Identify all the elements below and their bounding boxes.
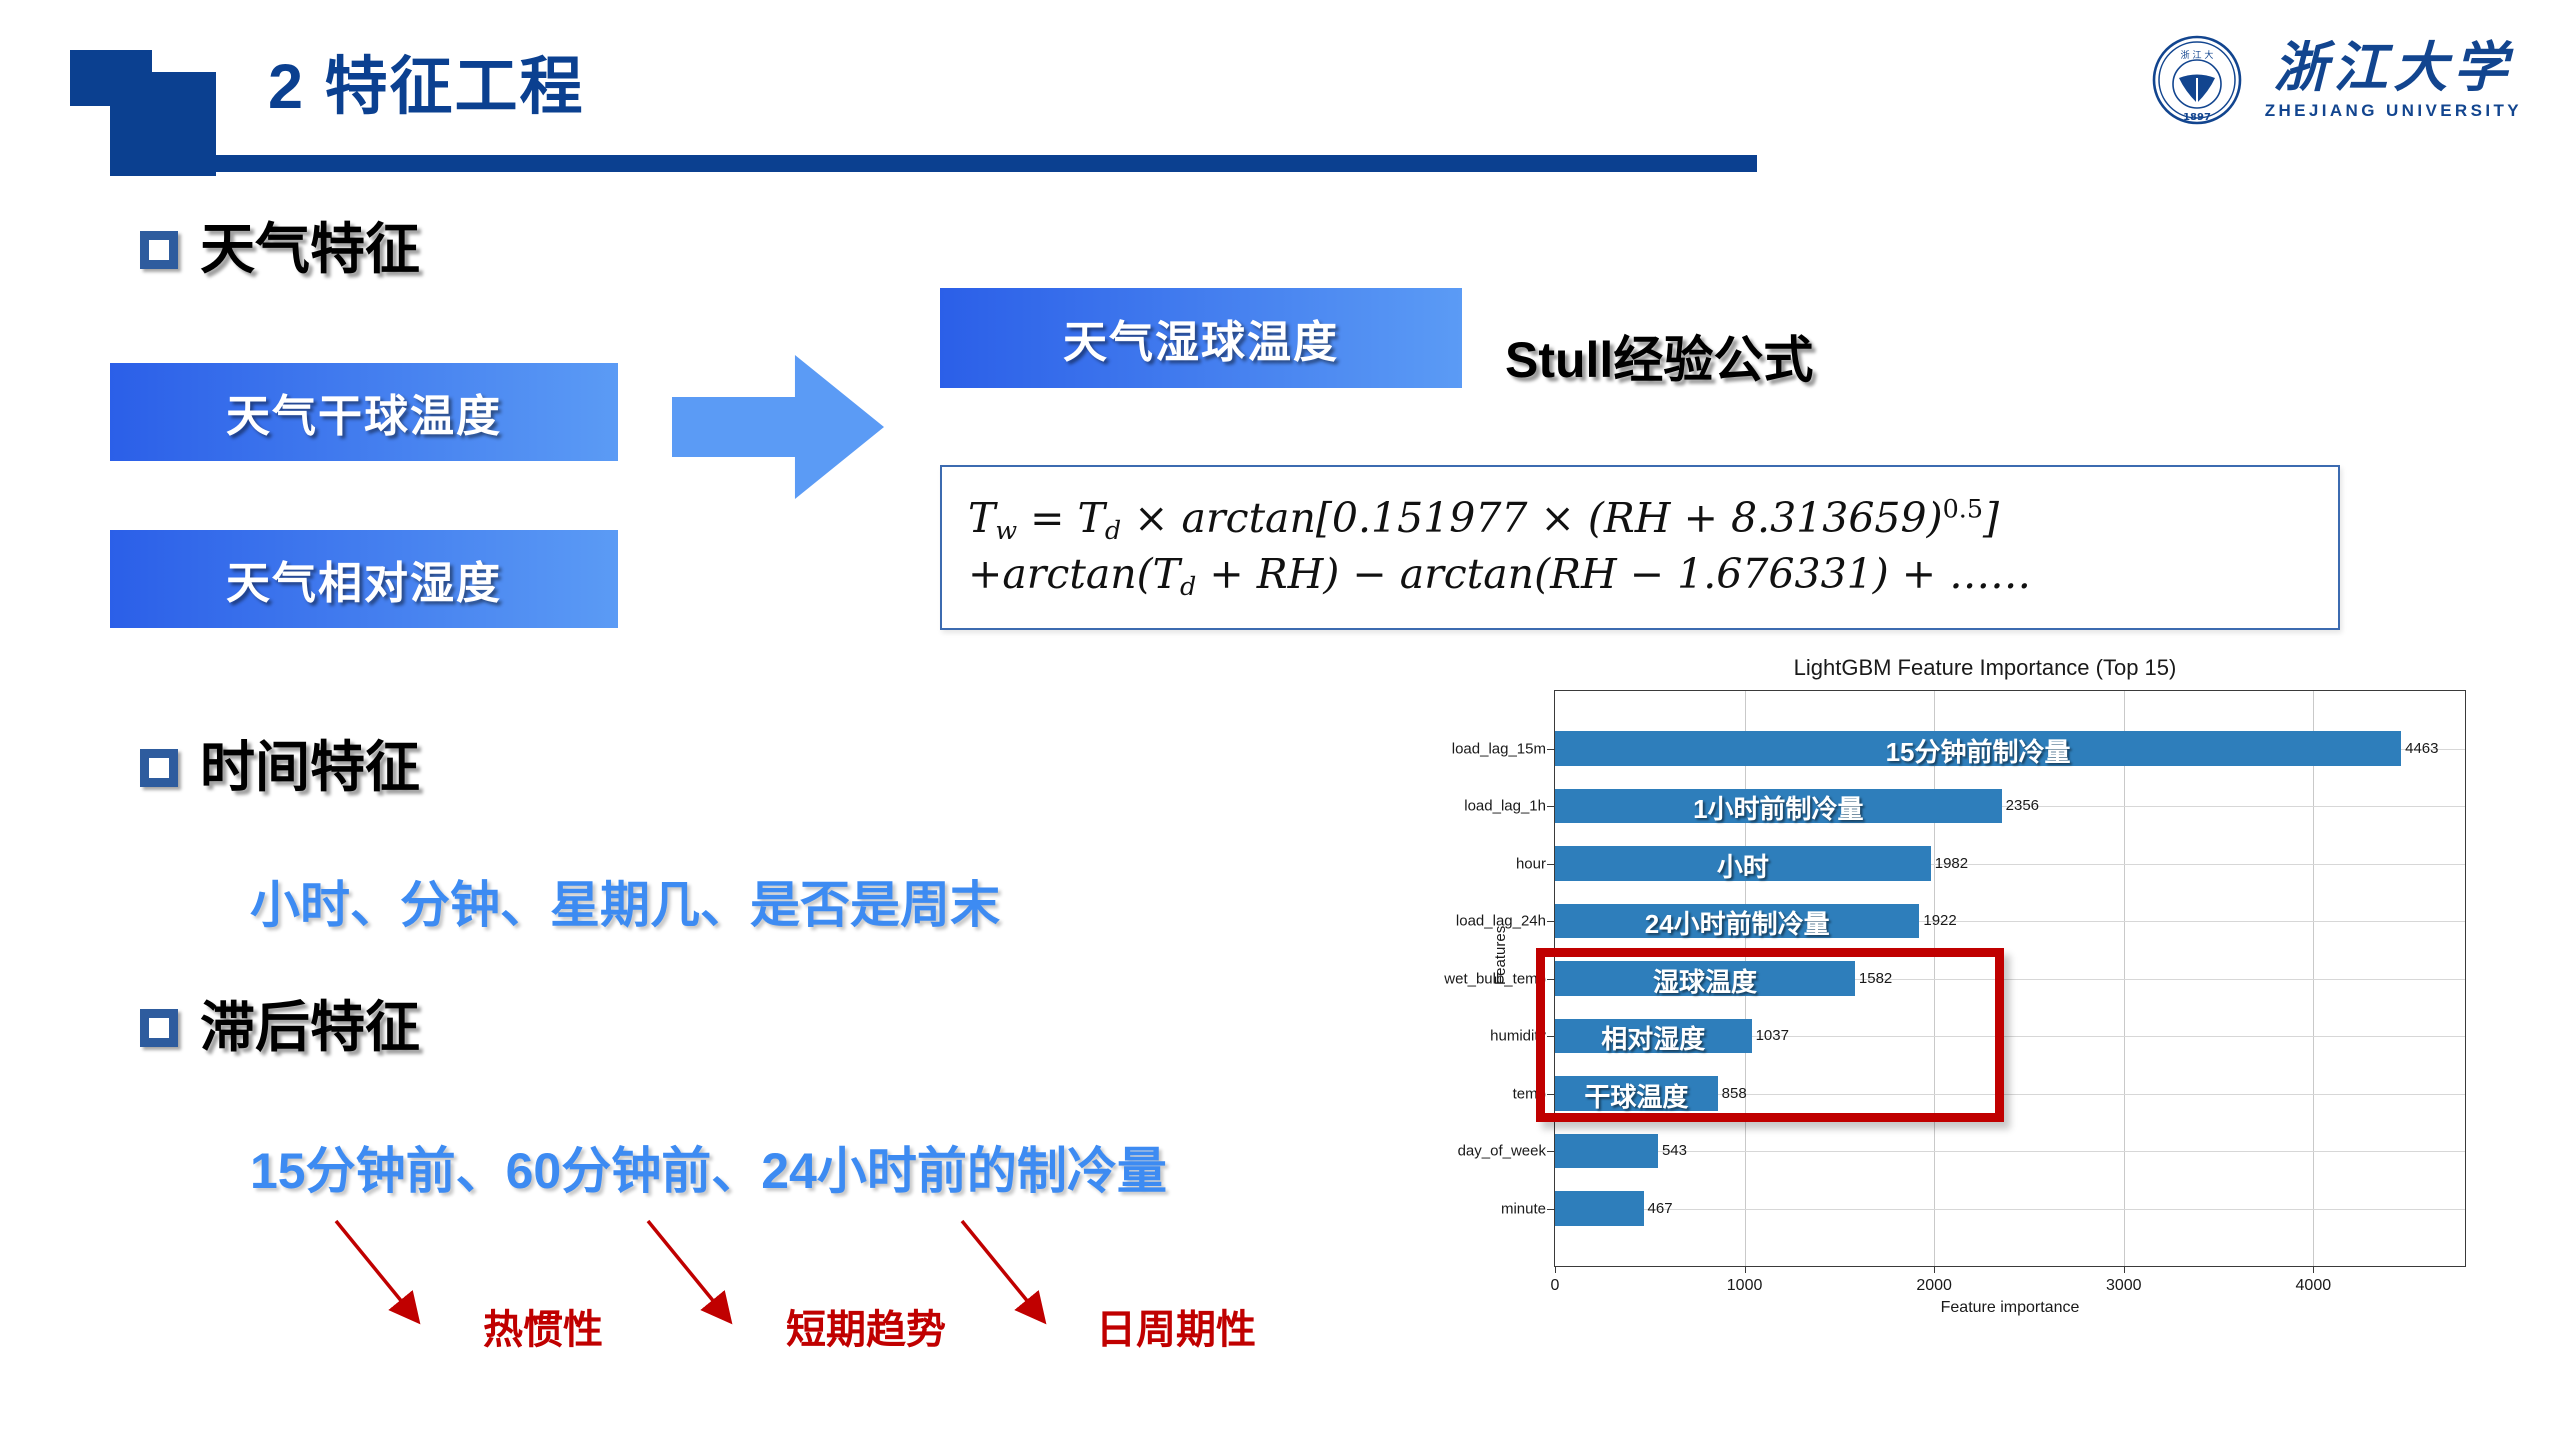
stull-formula-box: Tw = Td × arctan[0.151977 × (RH + 8.3136… <box>940 465 2340 630</box>
chart-bar-value: 467 <box>1648 1200 1673 1217</box>
annotation-thermal-inertia: 热惯性 <box>483 1297 603 1355</box>
chart-y-tick: load_lag_15m <box>1452 740 1546 757</box>
chart-bar-annotation: 小时 <box>1555 847 1931 884</box>
square-bullet-icon <box>140 231 178 269</box>
logo-wordmark: 浙江大学 ZHEJIANG UNIVERSITY <box>2265 40 2522 121</box>
chart-y-tick: hour <box>1516 855 1546 872</box>
chart-x-tick: 0 <box>1551 1277 1560 1295</box>
chart-y-tickmark <box>1547 864 1555 865</box>
chip-relative-humidity: 天气相对湿度 <box>110 530 618 628</box>
chip-dry-bulb-label: 天气干球温度 <box>226 380 502 444</box>
time-features-detail: 小时、分钟、星期几、是否是周末 <box>250 880 1000 930</box>
chart-bar-value: 1982 <box>1935 855 1968 872</box>
bullet-time-features: 时间特征 <box>140 740 420 795</box>
zju-seal-icon: 1897 浙 江 大 <box>2151 34 2243 126</box>
annotation-short-term-trend: 短期趋势 <box>786 1297 946 1355</box>
chart-bar-annotation: 15分钟前制冷量 <box>1555 732 2401 769</box>
chart-x-tick: 3000 <box>2106 1277 2142 1295</box>
chart-bar-annotation: 湿球温度 <box>1555 962 1855 999</box>
chart-y-tickmark <box>1547 806 1555 807</box>
chart-bar-value: 2356 <box>2006 797 2039 814</box>
page-title: 2 特征工程 <box>268 56 585 119</box>
annotation-daily-periodicity: 日周期性 <box>1096 1297 1256 1355</box>
chart-y-tick: load_lag_24h <box>1456 913 1546 930</box>
chart-x-axis-label: Feature importance <box>1554 1299 2466 1317</box>
chart-title: LightGBM Feature Importance (Top 15) <box>1470 655 2500 681</box>
chart-y-tickmark <box>1547 1094 1555 1095</box>
chart-y-tick: temp <box>1513 1085 1546 1102</box>
chart-y-tick: day_of_week <box>1458 1143 1546 1160</box>
chart-bar-value: 1037 <box>1756 1027 1789 1044</box>
chart-y-tick: humidity <box>1490 1028 1546 1045</box>
chart-x-tickmark <box>1555 1266 1556 1273</box>
feature-importance-chart: LightGBM Feature Importance (Top 15) Fea… <box>1470 655 2500 1355</box>
arrow-daily-periodicity <box>962 1221 1042 1319</box>
chart-y-tickmark <box>1547 1151 1555 1152</box>
chart-bar-annotation: 24小时前制冷量 <box>1555 904 1919 941</box>
square-bullet-icon <box>140 749 178 787</box>
square-bullet-icon <box>140 1009 178 1047</box>
chart-y-tickmark <box>1547 749 1555 750</box>
chart-x-tick: 4000 <box>2296 1277 2332 1295</box>
chart-x-tick: 1000 <box>1727 1277 1763 1295</box>
chart-bar-value: 1582 <box>1859 970 1892 987</box>
chart-y-tickmark <box>1547 979 1555 980</box>
bullet-lag-features: 滞后特征 <box>140 1000 420 1055</box>
bullet-weather-label: 天气特征 <box>200 222 420 277</box>
chart-y-tickmark <box>1547 921 1555 922</box>
logo-english-name: ZHEJIANG UNIVERSITY <box>2265 101 2522 121</box>
chart-y-tickmark <box>1547 1036 1555 1037</box>
title-underline-bar <box>214 155 1757 172</box>
bullet-weather-features: 天气特征 <box>140 222 420 277</box>
chart-bar <box>1555 1191 1644 1226</box>
chart-y-gridline <box>1555 1209 2465 1210</box>
chip-relative-humidity-label: 天气相对湿度 <box>226 547 502 611</box>
chart-bar-annotation: 干球温度 <box>1555 1077 1718 1114</box>
chart-bar-annotation: 1小时前制冷量 <box>1555 789 2002 826</box>
bullet-time-label: 时间特征 <box>200 740 420 795</box>
chart-bar-value: 4463 <box>2405 740 2438 757</box>
chart-x-tickmark <box>2124 1266 2125 1273</box>
slide-root: 2 特征工程 1897 浙 江 大 浙江大学 ZHEJIANG UNIVERSI… <box>0 0 2560 1440</box>
svg-text:浙 江 大: 浙 江 大 <box>2180 49 2213 61</box>
arrow-short-term-trend <box>648 1221 728 1319</box>
chart-bar-value: 858 <box>1722 1085 1747 1102</box>
chart-x-tickmark <box>2313 1266 2314 1273</box>
arrow-thermal-inertia <box>336 1221 416 1319</box>
chart-bar-value: 1922 <box>1923 912 1956 929</box>
title-decoration-lower <box>110 72 216 176</box>
formula-line-1: Tw = Td × arctan[0.151977 × (RH + 8.3136… <box>968 492 2312 547</box>
chart-x-tickmark <box>1934 1266 1935 1273</box>
chart-plot-area: 01000200030004000load_lag_15m446315分钟前制冷… <box>1554 690 2466 1267</box>
chart-bar-annotation: 相对湿度 <box>1555 1019 1752 1056</box>
chart-y-tick: load_lag_1h <box>1464 798 1546 815</box>
lag-features-detail: 15分钟前、60分钟前、24小时前的制冷量 <box>250 1146 1167 1196</box>
chart-y-gridline <box>1555 1151 2465 1152</box>
stull-formula-heading: Stull经验公式 <box>1505 320 1813 392</box>
chart-y-tick: minute <box>1501 1200 1546 1217</box>
university-logo: 1897 浙 江 大 浙江大学 ZHEJIANG UNIVERSITY <box>2151 34 2522 126</box>
chart-y-tickmark <box>1547 1209 1555 1210</box>
chart-bar-value: 543 <box>1662 1142 1687 1159</box>
bullet-lag-label: 滞后特征 <box>200 1000 420 1055</box>
formula-line-2: +arctan(Td + RH) − arctan(RH − 1.676331)… <box>968 548 2312 603</box>
chip-wet-bulb-temperature: 天气湿球温度 <box>940 288 1462 388</box>
logo-chinese-name: 浙江大学 <box>2273 40 2513 94</box>
chart-x-tick: 2000 <box>1916 1277 1952 1295</box>
chip-wet-bulb-label: 天气湿球温度 <box>1063 306 1339 370</box>
seal-year-text: 1897 <box>2183 112 2211 123</box>
chart-y-tick: wet_bulb_temp <box>1444 970 1546 987</box>
right-arrow-icon <box>672 352 884 502</box>
chart-bar <box>1555 1134 1658 1169</box>
chart-x-tickmark <box>1745 1266 1746 1273</box>
chip-dry-bulb-temperature: 天气干球温度 <box>110 363 618 461</box>
